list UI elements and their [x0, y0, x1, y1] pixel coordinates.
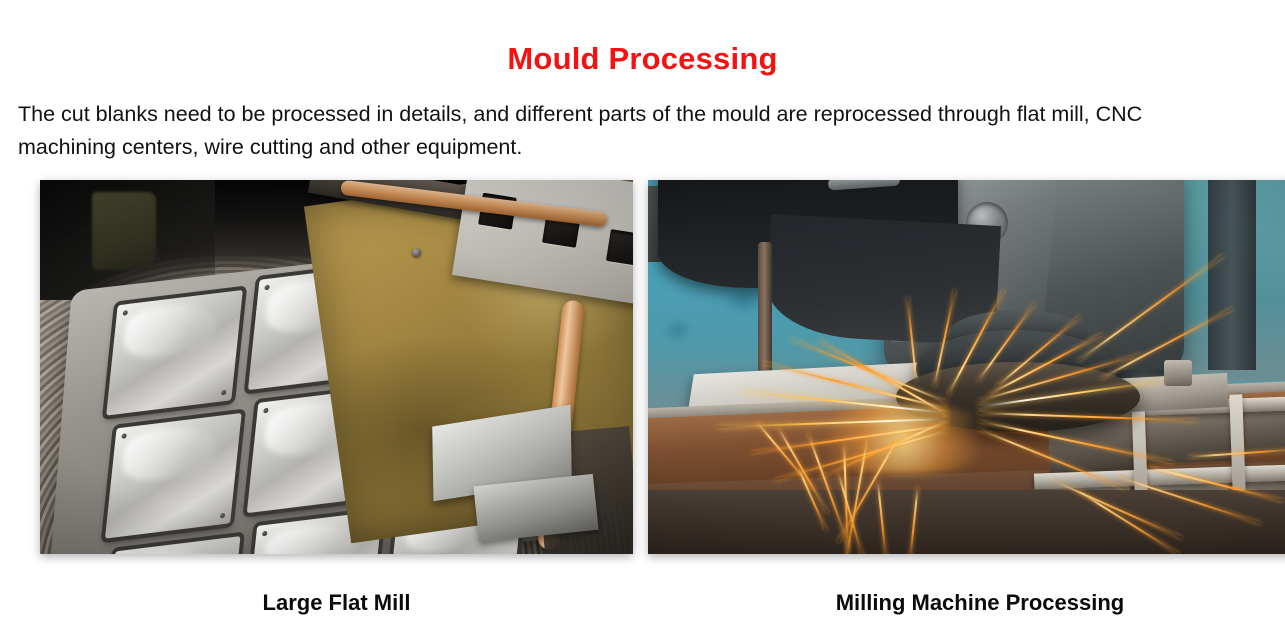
spark	[1100, 308, 1233, 380]
lattice-pocket	[1142, 477, 1230, 538]
fixture-slab	[683, 357, 1024, 445]
machine-top-shadow	[40, 180, 633, 276]
spark	[996, 315, 1081, 387]
plate-shine	[403, 495, 501, 554]
plate-shine	[261, 520, 359, 554]
machine-left-shadow	[40, 180, 215, 300]
spindle-small-bolt	[880, 238, 900, 258]
spark	[755, 420, 814, 490]
plate-shine	[262, 397, 360, 459]
spark	[978, 412, 1198, 422]
workpiece-top-face	[648, 379, 1285, 431]
spark	[909, 487, 918, 554]
spark	[978, 380, 1166, 408]
orange-hose-vertical	[537, 300, 585, 551]
wall-pillar	[1116, 180, 1178, 380]
spark	[977, 303, 1035, 382]
spark-hot-core	[798, 404, 1008, 474]
spark	[877, 481, 887, 554]
clamp-boss	[1164, 360, 1192, 386]
wall-teal-panel	[1048, 180, 1285, 380]
lattice-pocket	[1146, 407, 1234, 464]
lattice-pocket	[1048, 416, 1136, 473]
wall-opening	[648, 186, 700, 262]
strip-bolt	[412, 248, 421, 257]
vertical-shaft	[758, 242, 772, 392]
spark	[820, 420, 949, 478]
spark	[1188, 448, 1285, 458]
spark	[978, 420, 1174, 464]
spark	[1118, 476, 1261, 524]
flat-mill-background	[40, 180, 633, 554]
plate-shine	[405, 248, 503, 310]
figure-milling-machine-processing: Milling Machine Processing	[648, 180, 1285, 616]
lattice-pocket	[1240, 467, 1285, 528]
spark	[906, 297, 916, 381]
mould-plate	[105, 413, 242, 539]
spindle-cap-bolt	[966, 202, 1008, 244]
mould-plate	[389, 362, 526, 488]
spark	[1054, 480, 1183, 538]
mould-plate	[248, 264, 385, 390]
plate-shine	[119, 545, 217, 554]
lattice-rail	[1034, 462, 1285, 489]
fixture-lattice	[1041, 383, 1285, 554]
machine-rod	[828, 180, 901, 190]
spark	[775, 430, 948, 481]
strip-bolt	[484, 262, 493, 271]
photo-vignette	[648, 180, 1285, 554]
spark	[988, 333, 1104, 396]
lattice-pocket	[1243, 397, 1285, 454]
clamp-block	[432, 405, 572, 502]
cutter-disc-top	[948, 310, 1088, 358]
photo-vignette	[40, 180, 633, 554]
rotary-table-grooves	[40, 238, 633, 554]
wall-pillar-secondary	[1208, 180, 1256, 370]
spark	[797, 466, 827, 531]
rusty-workpiece	[648, 389, 1285, 503]
spark	[843, 437, 869, 554]
workshop-wall	[648, 180, 1285, 412]
cast-housing	[452, 180, 633, 308]
lattice-pocket	[1044, 486, 1132, 547]
lattice-rail	[1131, 402, 1149, 552]
fixture-bracket	[473, 474, 598, 542]
cutter-disc-bottom	[896, 362, 1140, 432]
housing-window	[606, 229, 633, 266]
workshop-floor	[648, 490, 1285, 554]
figure-caption-large-flat-mill: Large Flat Mill	[40, 590, 633, 616]
mould-plate	[247, 388, 384, 514]
ochre-guard-panel	[304, 180, 633, 543]
spark	[1078, 254, 1225, 361]
photo-large-flat-mill[interactable]	[40, 180, 633, 554]
spark	[843, 443, 849, 553]
spark	[837, 471, 863, 554]
steel-strip	[308, 180, 633, 255]
lattice-rail	[1229, 394, 1247, 544]
spark	[933, 289, 955, 387]
mould-plate	[390, 239, 527, 365]
spark	[978, 353, 1142, 401]
rusty-workpiece-lower	[648, 459, 1285, 554]
mould-plate	[106, 290, 243, 416]
page-title: Mould Processing	[0, 39, 1285, 79]
figure-caption-milling-machine-processing: Milling Machine Processing	[648, 590, 1285, 616]
mould-plate	[104, 536, 241, 554]
mould-processing-section: Mould Processing The cut blanks need to …	[0, 0, 1285, 619]
dark-bracket	[535, 426, 633, 554]
spark	[818, 339, 949, 416]
mould-plate-grid	[52, 210, 611, 554]
spark	[750, 424, 948, 454]
spark	[947, 289, 1005, 396]
mould-plate	[387, 485, 524, 554]
rotary-table-sheen	[40, 238, 633, 554]
milling-background	[648, 180, 1285, 554]
spark	[1148, 466, 1284, 502]
spindle-housing	[884, 180, 1184, 370]
guard-panel-texture	[304, 180, 633, 543]
spark	[807, 432, 849, 545]
machine-guard-arm	[658, 180, 958, 288]
machine-guard-arm-lower	[765, 214, 1001, 346]
strip-bolt	[546, 276, 555, 285]
spark	[718, 418, 948, 428]
wall-mottling	[648, 180, 898, 412]
spark	[1078, 490, 1181, 554]
spindle-housing-face	[891, 180, 1059, 342]
clamp-fixture	[1107, 373, 1229, 413]
plate-shine	[264, 274, 362, 336]
spark	[837, 438, 898, 543]
orange-hose	[340, 180, 608, 227]
fixture-slab-shadow	[709, 417, 978, 491]
lattice-rail	[1032, 394, 1285, 419]
spark	[978, 428, 1127, 489]
plate-shine	[121, 422, 219, 484]
machine-green-fitting	[92, 192, 156, 270]
spark	[739, 390, 948, 414]
housing-window	[478, 193, 517, 230]
lattice-rail	[1036, 534, 1285, 554]
housing-window	[542, 211, 581, 248]
ceiling-lamp-glow	[1086, 180, 1156, 198]
figure-large-flat-mill: Large Flat Mill	[40, 180, 633, 616]
intro-paragraph: The cut blanks need to be processed in d…	[18, 98, 1208, 164]
mould-plate	[246, 511, 383, 554]
machine-chuck-surface	[48, 232, 589, 554]
photo-milling-machine[interactable]	[648, 180, 1285, 554]
plate-shine	[404, 371, 502, 433]
spark	[777, 426, 828, 513]
cutter-disc-middle	[916, 330, 1116, 408]
spark	[790, 338, 948, 403]
figure-row: Large Flat Mill	[0, 164, 1285, 619]
plate-shine	[122, 299, 220, 361]
spark	[763, 362, 948, 410]
